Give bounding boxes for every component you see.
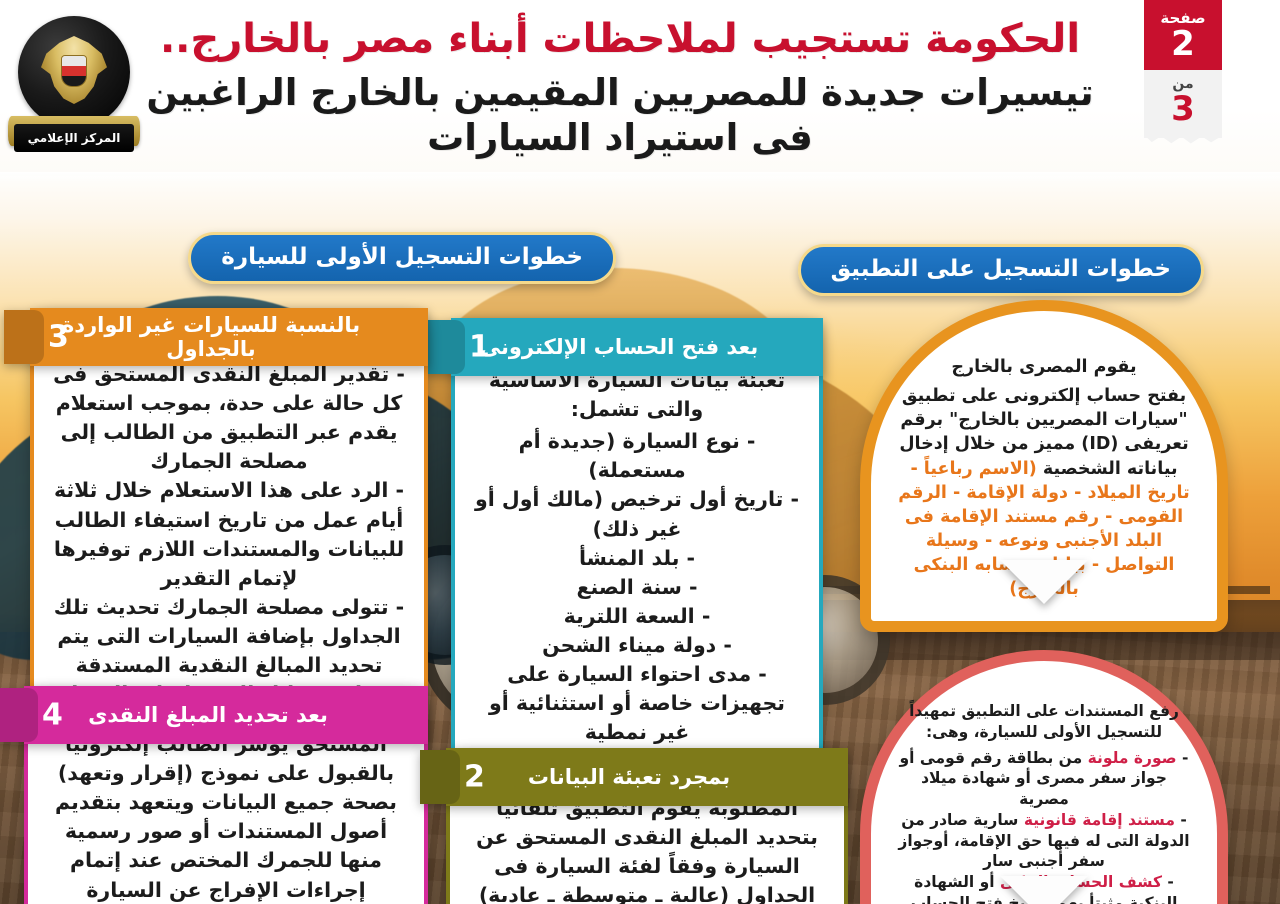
step-line: - سنة الصنع (473, 573, 801, 602)
app-step-body-2: رفع المستندات على التطبيق تمهيداً للتسجي… (860, 650, 1228, 904)
step-card-2: بمجرد تعبئة البيانات 2 المطلوبة يقوم الت… (446, 748, 848, 904)
step-line: - تاريخ أول ترخيص (مالك أول أو غير ذلك) (473, 485, 801, 543)
page-title: الحكومة تستجيب لملاحظات أبناء مصر بالخار… (130, 16, 1110, 160)
step-line: - دولة ميناء الشحن (473, 631, 801, 660)
flow-arrow-down-icon-2 (1000, 876, 1088, 904)
page-number-badge: صفحة 2 من 3 (1144, 0, 1222, 138)
page-total: 3 (1144, 92, 1222, 128)
step-ribbon-2: بمجرد تعبئة البيانات 2 (446, 748, 848, 806)
step-ribbon-1: بعد فتح الحساب الإلكترونى 1 (451, 318, 823, 376)
app-step-header-2: رفع المستندات على التطبيق تمهيداً للتسجي… (897, 701, 1191, 743)
step-number-1: 1 (459, 330, 490, 365)
doc-highlight: صورة ملونة (1088, 749, 1177, 767)
step-line: المطلوبة يقوم التطبيق تلقائياً بتحديد ال… (468, 794, 826, 904)
section-pill-app-registration: خطوات التسجيل على التطبيق (798, 244, 1204, 296)
app-step-header-1: يقوم المصرى بالخارج (897, 355, 1191, 379)
step-line: - نوع السيارة (جديدة أم مستعملة) (473, 427, 801, 485)
step-title-3: بالنسبة للسيارات غير الواردة بالجداول (30, 308, 428, 366)
step-line: - تقدير المبلغ النقدى المستحق فى كل حالة… (52, 360, 406, 476)
logo-band-label: المركز الإعلامي (14, 124, 134, 152)
step-line: - الرد على هذا الاستعلام خلال ثلاثة أيام… (52, 476, 406, 592)
step-line: - مدى احتواء السيارة على تجهيزات خاصة أو… (473, 660, 801, 747)
infographic-page: المركز الإعلامي الحكومة تستجيب لملاحظات … (0, 0, 1280, 904)
document-item: - صورة ملونة من بطاقة رقم قومى أو جواز س… (897, 748, 1191, 810)
step-line: - السعة اللترية (473, 602, 801, 631)
step-number-4: 4 (32, 698, 63, 733)
doc-highlight: مستند إقامة قانونية (1024, 811, 1175, 829)
page-number: 2 (1144, 27, 1222, 63)
step-line: المستحق يؤشر الطالب إلكترونياً بالقبول ع… (46, 730, 406, 904)
doc-bullet: - (1177, 749, 1189, 767)
step-title-2: بمجرد تعبئة البيانات (446, 748, 848, 806)
section-pill-car-registration: خطوات التسجيل الأولى للسيارة (188, 232, 616, 284)
step-title-1: بعد فتح الحساب الإلكترونى (451, 318, 823, 376)
egypt-flag-shield-icon (62, 56, 86, 86)
doc-bullet: - (1162, 873, 1174, 891)
step-number-3: 3 (38, 320, 69, 355)
flow-arrow-down-icon-1 (1000, 560, 1088, 604)
step-ribbon-3: بالنسبة للسيارات غير الواردة بالجداول 3 (30, 308, 428, 366)
step-card-4: بعد تحديد المبلغ النقدى 4 المستحق يؤشر ا… (24, 686, 428, 904)
step-line: - بلد المنشأ (473, 544, 801, 573)
page-header: المركز الإعلامي الحكومة تستجيب لملاحظات … (0, 0, 1280, 176)
step-number-2: 2 (454, 760, 485, 795)
title-line-2: تيسيرات جديدة للمصريين المقيمين بالخارج … (130, 71, 1110, 160)
cabinet-logo: المركز الإعلامي (8, 12, 140, 164)
page-badge-top: صفحة 2 (1144, 0, 1222, 70)
doc-bullet: - (1175, 811, 1187, 829)
step-title-4: بعد تحديد المبلغ النقدى (24, 686, 428, 744)
document-item: - مستند إقامة قانونية سارية صادر من الدو… (897, 810, 1191, 872)
app-step-card-upload-documents: رفع المستندات على التطبيق تمهيداً للتسجي… (860, 650, 1228, 904)
title-line-1: الحكومة تستجيب لملاحظات أبناء مصر بالخار… (130, 16, 1110, 63)
step-ribbon-4: بعد تحديد المبلغ النقدى 4 (24, 686, 428, 744)
page-badge-bottom: من 3 (1144, 70, 1222, 138)
